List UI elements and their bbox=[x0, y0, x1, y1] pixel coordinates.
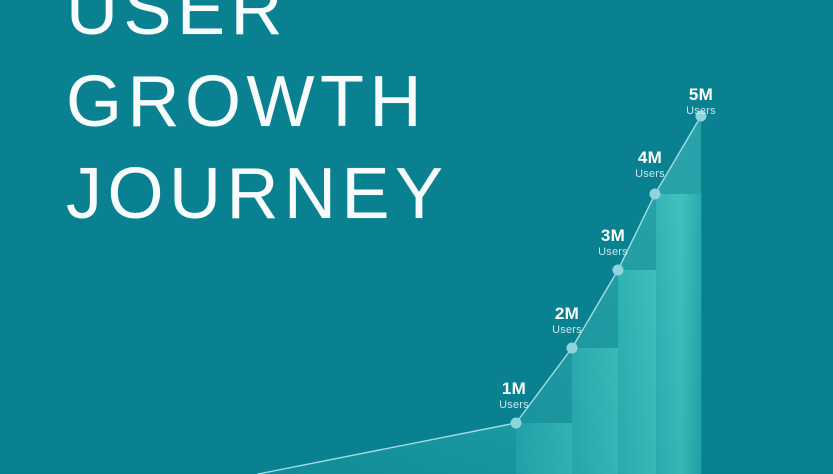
data-point-2m[interactable] bbox=[567, 343, 578, 354]
data-point-5m[interactable] bbox=[696, 111, 707, 122]
data-point-1m[interactable] bbox=[511, 418, 522, 429]
poster-title: USER GROWTH JOURNEY bbox=[66, 0, 449, 240]
title-line-1: USER bbox=[66, 0, 449, 56]
title-line-3: JOURNEY bbox=[66, 148, 449, 240]
title-line-2: GROWTH bbox=[66, 56, 449, 148]
poster-canvas: 1M Users 2M Users 3M Users 4M Users 5M U… bbox=[0, 0, 833, 474]
data-point-4m[interactable] bbox=[650, 189, 661, 200]
data-point-3m[interactable] bbox=[613, 265, 624, 276]
